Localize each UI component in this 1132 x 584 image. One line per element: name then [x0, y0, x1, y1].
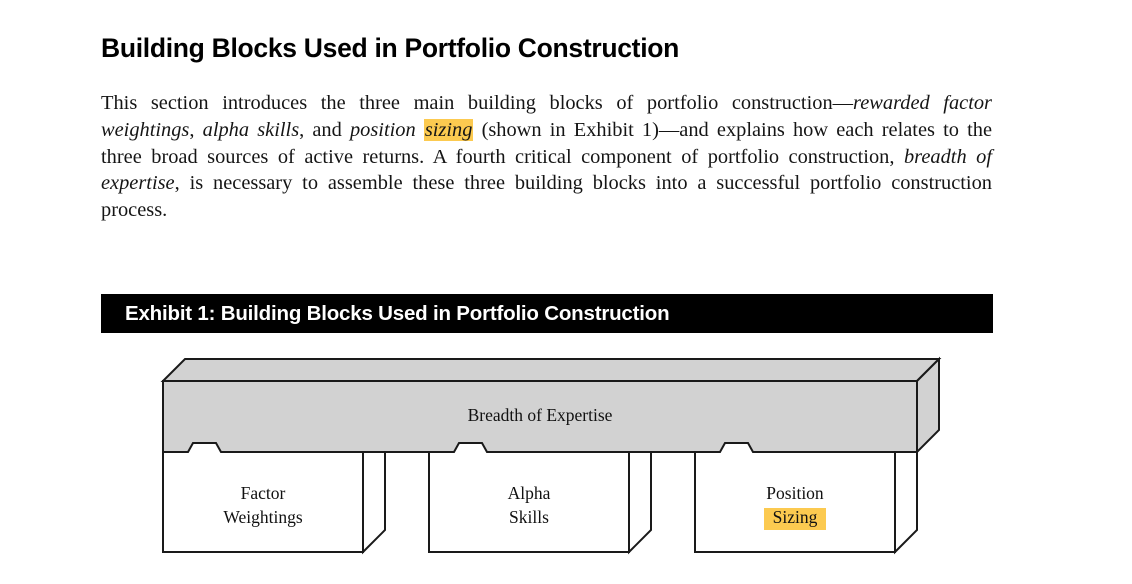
block-3-side-face: [895, 448, 917, 552]
term-alpha-skills: alpha skills: [203, 119, 300, 141]
exhibit-title-bar: Exhibit 1: Building Blocks Used in Portf…: [101, 294, 993, 333]
block-3-label-highlight-sizing: Sizing: [773, 507, 818, 527]
exhibit-diagram: Breadth of Expertise Factor Weightings A…: [101, 336, 1001, 576]
block-2-label-line-1: Alpha: [508, 483, 551, 503]
slab-label-breadth-of-expertise: Breadth of Expertise: [468, 405, 613, 425]
paragraph-text-part-1: This section introduces the three main b…: [101, 92, 853, 114]
block-1-label-line-1: Factor: [241, 483, 286, 503]
paragraph-text-part-3: , and: [299, 119, 350, 141]
slab-top-face: [163, 359, 939, 381]
highlighted-term-sizing: sizing: [424, 119, 474, 141]
term-position: position: [350, 119, 424, 141]
block-1-label-line-2: Weightings: [223, 507, 302, 527]
page-title: Building Blocks Used in Portfolio Constr…: [101, 34, 1001, 64]
intro-paragraph: This section introduces the three main b…: [101, 90, 992, 223]
paragraph-text-part-5: , is necessary to assemble these three b…: [101, 172, 992, 221]
paragraph-text-part-2: ,: [189, 119, 202, 141]
block-2-label-line-2: Skills: [509, 507, 549, 527]
exhibit-title-text: Exhibit 1: Building Blocks Used in Portf…: [101, 302, 669, 326]
block-2-side-face: [629, 448, 651, 552]
block-3-label-line-1: Position: [766, 483, 824, 503]
block-1-side-face: [363, 448, 385, 552]
